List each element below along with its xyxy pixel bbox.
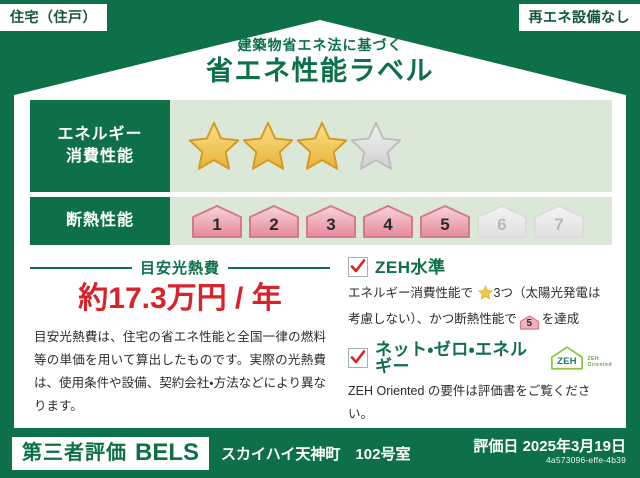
energy-performance-label: 住宅（住戸） 再エネ設備なし 建築物省エネ法に基づく 省エネ性能ラベル エネルギ… bbox=[0, 0, 640, 478]
criteria-net-zero-energy: ネット・ゼロ・エネルギー ZEH ZEH Oriented bbox=[348, 341, 612, 426]
cost-rule-right bbox=[228, 267, 330, 269]
utility-cost-heading: 目安光熱費 bbox=[30, 257, 330, 278]
badge-renewable-equipment: 再エネ設備なし bbox=[519, 4, 640, 31]
criteria-net-zero-label: ネット・ゼロ・エネルギー bbox=[375, 341, 539, 375]
star-icon-empty bbox=[350, 120, 402, 172]
label-content: エネルギー 消費性能 断熱性能 1234567 目安光熱費 約17.3万円 / … bbox=[30, 100, 612, 437]
insulation-label-text: 断熱性能 bbox=[66, 210, 134, 232]
star-icon-filled bbox=[188, 120, 240, 172]
label-title-block: 建築物省エネ法に基づく 省エネ性能ラベル bbox=[0, 38, 640, 85]
building-name: スカイハイ天神町 102号室 bbox=[221, 443, 410, 464]
criteria-zeh-standard-body: エネルギー消費性能で 3つ（太陽光発電は考慮しない）、かつ断熱性能で 5を達成 bbox=[348, 282, 612, 331]
criteria-zeh-body-part1: エネルギー消費性能で bbox=[348, 286, 473, 300]
criteria-zeh-standard: ZEH水準 エネルギー消費性能で 3つ（太陽光発電は考慮しない）、かつ断熱性能で… bbox=[348, 257, 612, 331]
criteria-net-zero-body: ZEH Oriented の要件は評価書をご覧ください。 bbox=[348, 380, 612, 426]
insulation-grade-value: 3 bbox=[326, 216, 335, 239]
insulation-grade-value: 5 bbox=[440, 216, 449, 239]
criteria-zeh-standard-label: ZEH水準 bbox=[375, 259, 446, 276]
utility-cost-column: 目安光熱費 約17.3万円 / 年 目安光熱費は、住宅の省エネ性能と全国一律の燃… bbox=[30, 257, 330, 437]
svg-text:ZEH: ZEH bbox=[558, 356, 578, 366]
criteria-column: ZEH水準 エネルギー消費性能で 3つ（太陽光発電は考慮しない）、かつ断熱性能で… bbox=[330, 257, 612, 437]
criteria-net-zero-title: ネット・ゼロ・エネルギー ZEH ZEH Oriented bbox=[348, 341, 612, 375]
label-title-subtitle: 建築物省エネ法に基づく bbox=[0, 38, 640, 52]
insulation-grade-value: 4 bbox=[383, 216, 392, 239]
energy-performance-row: エネルギー 消費性能 bbox=[30, 100, 612, 192]
bels-logo-text: BELS bbox=[135, 441, 199, 465]
star-icon bbox=[474, 289, 492, 303]
insulation-performance-label: 断熱性能 bbox=[30, 197, 170, 245]
star-icon-filled bbox=[296, 120, 348, 172]
insulation-performance-row: 断熱性能 1234567 bbox=[30, 197, 612, 245]
zeh-logo-sub-line2: Oriented bbox=[587, 362, 612, 368]
label-lower-section: 目安光熱費 約17.3万円 / 年 目安光熱費は、住宅の省エネ性能と全国一律の燃… bbox=[30, 257, 612, 437]
zeh-oriented-logo-caption: ZEH Oriented bbox=[587, 357, 612, 372]
insulation-grade-6: 6 bbox=[475, 203, 529, 239]
third-party-evaluation-label: 第三者評価 bbox=[22, 443, 127, 463]
energy-label-line1: エネルギー bbox=[57, 124, 142, 146]
insulation-grade-2: 2 bbox=[247, 203, 301, 239]
criteria-zeh-standard-title: ZEH水準 bbox=[348, 257, 612, 277]
insulation-grade-value: 1 bbox=[212, 216, 221, 239]
energy-star-rating bbox=[170, 100, 612, 192]
insulation-grade-inline-value: 5 bbox=[519, 315, 540, 332]
insulation-grade-1: 1 bbox=[190, 203, 244, 239]
energy-label-line2: 消費性能 bbox=[66, 146, 134, 168]
insulation-grade-7: 7 bbox=[532, 203, 586, 239]
checkmark-icon bbox=[348, 257, 368, 277]
insulation-grade-4: 4 bbox=[361, 203, 415, 239]
insulation-grade-value: 2 bbox=[269, 216, 278, 239]
insulation-grade-inline-icon: 5 bbox=[519, 315, 540, 330]
utility-cost-amount: 約17.3万円 / 年 bbox=[30, 280, 330, 318]
label-title-main: 省エネ性能ラベル bbox=[0, 58, 640, 85]
insulation-grade-value: 7 bbox=[554, 216, 563, 239]
criteria-zeh-body-part3: を達成 bbox=[542, 312, 580, 326]
checkmark-icon bbox=[348, 348, 368, 368]
star-icon-filled bbox=[242, 120, 294, 172]
bels-badge: 第三者評価 BELS bbox=[12, 437, 209, 470]
label-footer: 第三者評価 BELS スカイハイ天神町 102号室 評価日 2025年3月19日… bbox=[0, 428, 640, 478]
insulation-grade-3: 3 bbox=[304, 203, 358, 239]
insulation-grade-5: 5 bbox=[418, 203, 472, 239]
cost-rule-left bbox=[30, 267, 132, 269]
footer-evaluation-info: 評価日 2025年3月19日 4a573096-effe-4b39 bbox=[473, 439, 626, 467]
cost-heading-text: 目安光熱費 bbox=[140, 257, 220, 278]
badge-dwelling-type: 住宅（住戸） bbox=[0, 4, 107, 31]
energy-performance-label: エネルギー 消費性能 bbox=[30, 100, 170, 192]
zeh-oriented-logo: ZEH ZEH Oriented bbox=[549, 345, 612, 371]
utility-cost-note: 目安光熱費は、住宅の省エネ性能と全国一律の燃料等の単価を用いて算出したものです。… bbox=[30, 326, 330, 419]
evaluation-date: 評価日 2025年3月19日 bbox=[473, 439, 626, 456]
insulation-grade-value: 6 bbox=[497, 216, 506, 239]
evaluation-id: 4a573096-effe-4b39 bbox=[473, 455, 626, 467]
insulation-grade-scale: 1234567 bbox=[170, 197, 612, 245]
